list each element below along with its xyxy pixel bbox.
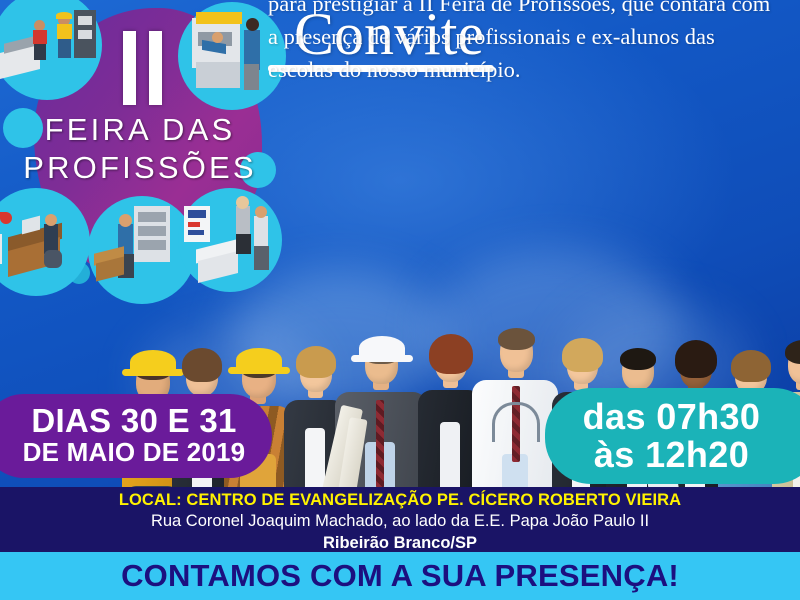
logo-line1: FEIRA DAS <box>10 112 270 148</box>
address-bar: LOCAL: CENTRO DE EVANGELIZAÇÃO PE. CÍCER… <box>0 487 800 552</box>
logo-numeral-ii <box>96 30 188 106</box>
logo-scene-reception-icon <box>0 0 102 100</box>
time-badge-line2: às 12h20 <box>594 436 749 474</box>
invitation-poster: FEIRA DAS PROFISSÕES Convite A E.E. Papa… <box>0 0 800 600</box>
logo-scene-desk-icon <box>0 188 90 296</box>
logo-scene-presentation-icon <box>178 188 282 292</box>
time-badge: das 07h30 às 12h20 <box>545 388 800 484</box>
footer-banner: CONTAMOS COM A SUA PRESENÇA! <box>0 552 800 600</box>
time-badge-line1: das 07h30 <box>583 398 761 436</box>
logo-line2: PROFISSÕES <box>10 150 270 186</box>
date-badge-line2: DE MAIO DE 2019 <box>23 437 246 468</box>
date-badge: DIAS 30 E 31 DE MAIO DE 2019 <box>0 394 272 478</box>
invitation-text-block: Convite A E.E. Papa João Paulo II tem a … <box>268 4 788 86</box>
date-badge-line1: DIAS 30 E 31 <box>31 404 236 437</box>
footer-text: CONTAMOS COM A SUA PRESENÇA! <box>121 558 679 594</box>
fair-logo: FEIRA DAS PROFISSÕES <box>0 0 290 292</box>
invitation-body: A E.E. Papa João Paulo II tem a honra em… <box>268 0 776 86</box>
address-local-label: LOCAL: CENTRO DE EVANGELIZAÇÃO PE. CÍCER… <box>0 490 800 511</box>
address-street: Rua Coronel Joaquim Machado, ao lado da … <box>0 511 800 532</box>
